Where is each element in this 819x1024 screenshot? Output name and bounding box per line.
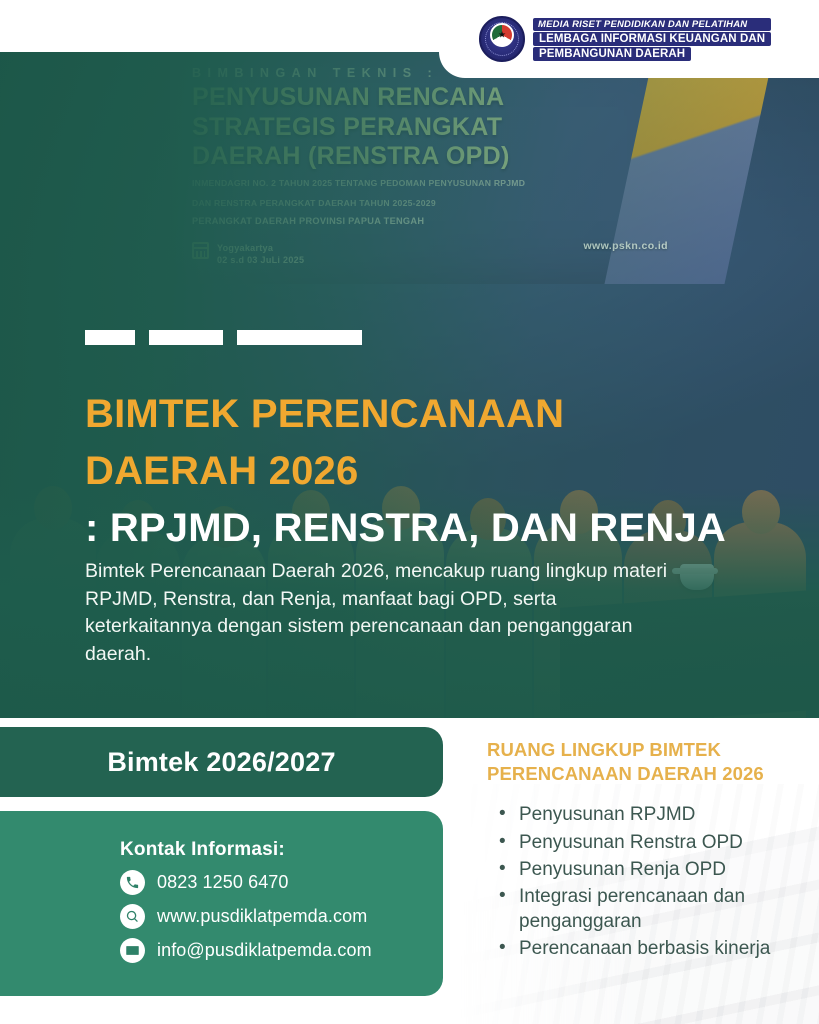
- brand-logo-card: ★ MEDIA RISET PENDIDIKAN DAN PELATIHAN L…: [439, 0, 819, 78]
- globe-icon: [120, 904, 145, 929]
- list-item: Perencanaan berbasis kinerja: [487, 937, 807, 961]
- scope-title-line2: PERENCANAAN DAERAH 2026: [487, 763, 764, 784]
- list-item: Penyusunan RPJMD: [487, 803, 807, 827]
- contact-email-value: info@pusdiklatpemda.com: [157, 940, 372, 961]
- dash-3: [237, 330, 362, 345]
- page-description: Bimtek Perencanaan Daerah 2026, mencakup…: [85, 558, 675, 669]
- contact-phone-value: 0823 1250 6470: [157, 872, 289, 893]
- contact-row-email[interactable]: info@pusdiklatpemda.com: [120, 938, 443, 963]
- contact-row-phone[interactable]: 0823 1250 6470: [120, 870, 443, 895]
- scope-title: RUANG LINGKUP BIMTEK PERENCANAAN DAERAH …: [487, 738, 807, 785]
- contact-info-card: Kontak Informasi: 0823 1250 6470 www.pus…: [0, 811, 443, 996]
- brand-name-line1: LEMBAGA INFORMASI KEUANGAN DAN: [533, 32, 771, 46]
- dash-1: [85, 330, 135, 345]
- contact-row-website[interactable]: www.pusdiklatpemda.com: [120, 904, 443, 929]
- list-item: Integrasi perencanaan dan penganggaran: [487, 885, 807, 934]
- decorative-dashes: [85, 330, 362, 345]
- page-title-line2: DAERAH 2026: [85, 449, 358, 493]
- brand-name-line2: PEMBANGUNAN DAERAH: [533, 47, 691, 61]
- phone-icon: [120, 870, 145, 895]
- scope-section: RUANG LINGKUP BIMTEK PERENCANAAN DAERAH …: [487, 738, 807, 964]
- contact-title: Kontak Informasi:: [120, 839, 443, 861]
- brand-logo-text: MEDIA RISET PENDIDIKAN DAN PELATIHAN LEM…: [533, 18, 771, 61]
- scope-title-line1: RUANG LINGKUP BIMTEK: [487, 739, 721, 760]
- dash-2: [149, 330, 223, 345]
- page-title-line3: : RPJMD, RENSTRA, DAN RENJA: [85, 506, 726, 550]
- bottom-section: Bimtek 2026/2027 Kontak Informasi: 0823 …: [0, 718, 819, 1024]
- mail-icon: [120, 938, 145, 963]
- brand-tagline: MEDIA RISET PENDIDIKAN DAN PELATIHAN: [533, 18, 771, 31]
- bimtek-year-banner: Bimtek 2026/2027: [0, 727, 443, 797]
- pskn-circular-emblem: ★: [479, 16, 525, 62]
- hero-photo-section: BIMBINGAN TEKNIS : PENYUSUNAN RENCANA ST…: [0, 52, 819, 718]
- list-item: Penyusunan Renja OPD: [487, 858, 807, 882]
- scope-list: Penyusunan RPJMD Penyusunan Renstra OPD …: [487, 803, 807, 961]
- bimtek-year-label: Bimtek 2026/2027: [107, 747, 335, 778]
- list-item: Penyusunan Renstra OPD: [487, 831, 807, 855]
- contact-website-value: www.pusdiklatpemda.com: [157, 906, 367, 927]
- page-title: BIMTEK PERENCANAAN DAERAH 2026 : RPJMD, …: [85, 386, 745, 556]
- page-title-line1: BIMTEK PERENCANAAN: [85, 392, 564, 436]
